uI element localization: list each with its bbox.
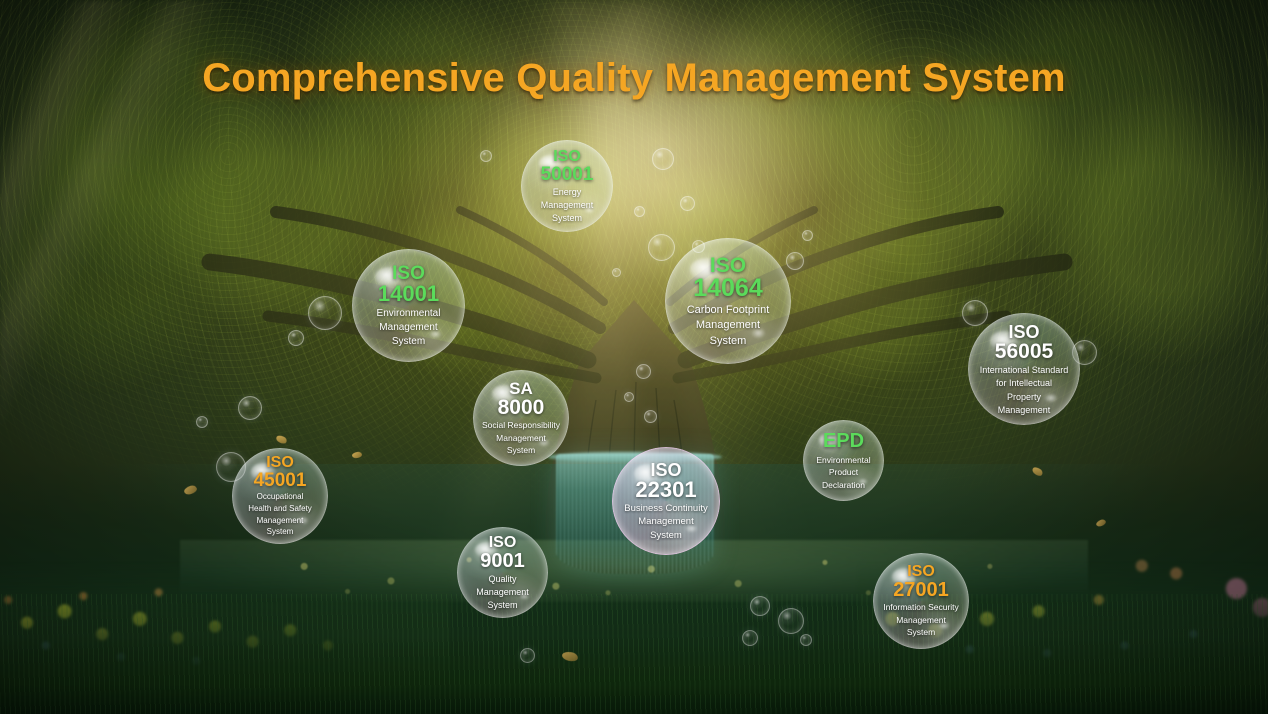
bubble-content: ISO 22301 Business Continuity Management… (618, 461, 713, 542)
bubble-code-line2: 14064 (687, 276, 770, 301)
floating-petal (275, 434, 288, 445)
bubble-desc-line3: System (482, 446, 560, 456)
bubble-code-line2: 9001 (476, 551, 529, 571)
bubble-desc-line1: Carbon Footprint (687, 304, 770, 316)
bubble-iso-56005[interactable]: ISO 56005 International Standard for Int… (968, 313, 1080, 425)
bubble-code-line2: 56005 (980, 341, 1069, 362)
bubble-desc-line1: International Standard (980, 365, 1069, 375)
bubble-desc-line3: System (687, 335, 770, 347)
bubble-desc-line3: System (883, 628, 959, 638)
bubble-desc-line2: Management (476, 587, 529, 597)
bubble-code-line1: ISO (476, 535, 529, 551)
bubble-content: ISO 9001 Quality Management System (470, 535, 535, 610)
foreground-grass (0, 594, 1268, 714)
bubble-desc-line1: Environmental (377, 308, 441, 319)
bubble-desc-line3: Management (248, 517, 312, 526)
bubble-sa-8000[interactable]: SA 8000 Social Responsibility Management… (473, 370, 569, 466)
decorative-bubble (612, 268, 621, 277)
floating-petal (352, 451, 363, 458)
bubble-desc-line3: System (476, 600, 529, 610)
bubble-desc-line2: Management (687, 319, 770, 331)
decorative-bubble (636, 364, 651, 379)
bubble-content: SA 8000 Social Responsibility Management… (476, 380, 566, 456)
bubble-code-line2: 27001 (883, 580, 959, 600)
decorative-bubble (802, 230, 813, 241)
bubble-code-line2: 22301 (624, 479, 707, 501)
bubble-iso-22301[interactable]: ISO 22301 Business Continuity Management… (612, 447, 720, 555)
bubble-desc-line1: Information Security (883, 603, 959, 613)
bubble-iso-9001[interactable]: ISO 9001 Quality Management System (457, 527, 548, 618)
bubble-content: ISO 50001 Energy Management System (535, 149, 600, 223)
bubble-content: ISO 14064 Carbon Footprint Management Sy… (681, 255, 776, 347)
bubble-iso-27001[interactable]: ISO 27001 Information Security Managemen… (873, 553, 969, 649)
page-title: Comprehensive Quality Management System (0, 56, 1268, 101)
decorative-bubble (238, 396, 262, 420)
bubble-code-line1: ISO (377, 264, 441, 283)
bubble-desc-line2: Management (377, 322, 441, 333)
bubble-code-line1: SA (482, 380, 560, 397)
decorative-bubble (648, 234, 675, 261)
decorative-bubble (624, 392, 634, 402)
bubble-desc-line1: Environmental (816, 456, 870, 466)
decorative-bubble (644, 410, 657, 423)
bubble-desc-line2: for Intellectual (980, 378, 1069, 388)
bubble-code-line1: EPD (816, 431, 870, 451)
bubble-epd[interactable]: EPD Environmental Product Declaration (803, 420, 884, 501)
bubble-iso-50001[interactable]: ISO 50001 Energy Management System (521, 140, 613, 232)
bubble-code-line2: 50001 (541, 165, 594, 184)
bubble-desc-line2: Health and Safety (248, 505, 312, 514)
bubble-desc-line2: Management (883, 616, 959, 626)
decorative-bubble (962, 300, 988, 326)
bubble-content: ISO 45001 Occupational Health and Safety… (242, 455, 318, 538)
bubble-desc-line1: Quality (476, 574, 529, 584)
bubble-content: ISO 14001 Environmental Management Syste… (371, 264, 447, 348)
bubble-desc-line1: Occupational (248, 493, 312, 502)
bubble-desc-line4: System (248, 528, 312, 537)
bubble-code-line1: ISO (980, 323, 1069, 341)
slide-canvas: Comprehensive Quality Management System … (0, 0, 1268, 714)
bubble-desc-line2: Management (482, 434, 560, 444)
bubble-code-line2: 45001 (248, 471, 312, 490)
decorative-bubble (652, 148, 674, 170)
decorative-bubble (196, 416, 208, 428)
bubble-desc-line3: System (377, 336, 441, 347)
decorative-bubble (288, 330, 304, 346)
bubble-iso-45001[interactable]: ISO 45001 Occupational Health and Safety… (232, 448, 328, 544)
bubble-content: ISO 56005 International Standard for Int… (974, 323, 1075, 414)
bubble-desc-line2: Management (541, 200, 594, 210)
bubble-code-line1: ISO (883, 564, 959, 580)
bubble-desc-line3: System (624, 531, 707, 542)
bubble-desc-line1: Energy (541, 187, 594, 197)
decorative-bubble (680, 196, 695, 211)
bubble-code-line1: ISO (248, 455, 312, 471)
bubble-desc-line1: Social Responsibility (482, 421, 560, 431)
bubble-desc-line4: Management (980, 405, 1069, 415)
decorative-bubble (786, 252, 804, 270)
bubble-code-line2: 14001 (377, 283, 441, 305)
bubble-desc-line2: Product (816, 468, 870, 478)
bubble-desc-line3: System (541, 213, 594, 223)
bubble-code-line2: 8000 (482, 397, 560, 418)
decorative-bubble (308, 296, 342, 330)
bubble-desc-line1: Business Continuity (624, 504, 707, 515)
bubble-desc-line3: Property (980, 392, 1069, 402)
bubble-desc-line3: Declaration (816, 481, 870, 491)
bubble-code-line1: ISO (541, 149, 594, 165)
bubble-iso-14064[interactable]: ISO 14064 Carbon Footprint Management Sy… (665, 238, 791, 364)
decorative-bubble (480, 150, 492, 162)
decorative-bubble (634, 206, 645, 217)
bubble-iso-14001[interactable]: ISO 14001 Environmental Management Syste… (352, 249, 465, 362)
bubble-desc-line2: Management (624, 517, 707, 528)
bubble-code-line1: ISO (687, 255, 770, 276)
bubble-content: ISO 27001 Information Security Managemen… (877, 564, 965, 638)
bubble-content: EPD Environmental Product Declaration (810, 431, 876, 491)
bubble-code-line1: ISO (624, 461, 707, 479)
